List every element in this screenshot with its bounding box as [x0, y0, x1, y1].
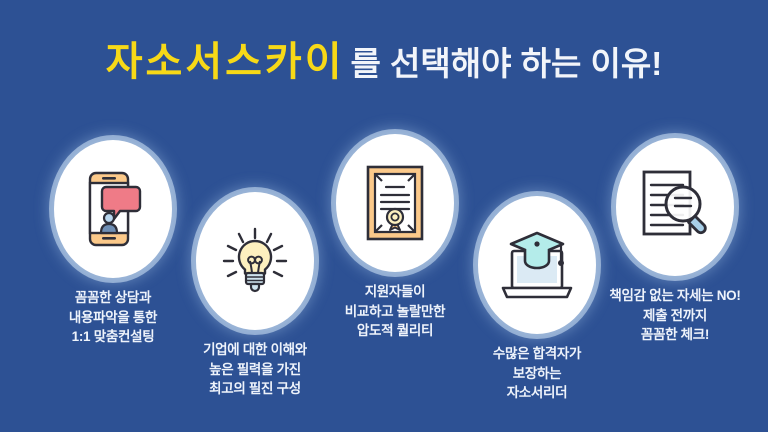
certificate-award-icon	[364, 164, 426, 242]
feature-caption: 책임감 없는 자세는 NO! 제출 전까지 꼼꼼한 체크!	[580, 286, 768, 345]
feature-icon-bubble	[616, 138, 734, 276]
caption-line: 수많은 합격자가	[442, 344, 632, 364]
smartphone-chat-icon	[84, 171, 142, 247]
laptop-graduation-cap-icon	[495, 227, 579, 303]
feature-icon-bubble	[54, 140, 172, 278]
caption-line: 책임감 없는 자세는 NO!	[580, 286, 768, 306]
title-suffix: 를 선택해야 하는 이유!	[351, 45, 663, 82]
feature-item-check: 책임감 없는 자세는 NO! 제출 전까지 꼼꼼한 체크!	[580, 138, 768, 345]
caption-line: 최고의 필진 구성	[160, 379, 350, 399]
feature-icon-bubble	[478, 196, 596, 334]
feature-icon-bubble	[336, 134, 454, 272]
caption-line: 꼼꼼한 체크!	[580, 325, 768, 345]
caption-line: 자소서리더	[442, 383, 632, 403]
brand-name: 자소서스카이	[106, 40, 345, 84]
page-title: 자소서스카이를 선택해야 하는 이유!	[0, 42, 768, 82]
document-magnifier-icon	[636, 168, 714, 246]
feature-icon-bubble	[196, 192, 314, 330]
feature-caption: 기업에 대한 이해와 높은 필력을 가진 최고의 필진 구성	[160, 340, 350, 399]
caption-line: 높은 필력을 가진	[160, 360, 350, 380]
feature-caption: 수많은 합격자가 보장하는 자소서리더	[442, 344, 632, 403]
lightbulb-idea-icon	[217, 223, 293, 299]
promo-slide: 자소서스카이를 선택해야 하는 이유! 꼼꼼한 상담과 내용파악을 통한 1:1…	[0, 0, 768, 432]
caption-line: 제출 전까지	[580, 306, 768, 326]
caption-line: 보장하는	[442, 364, 632, 384]
caption-line: 기업에 대한 이해와	[160, 340, 350, 360]
